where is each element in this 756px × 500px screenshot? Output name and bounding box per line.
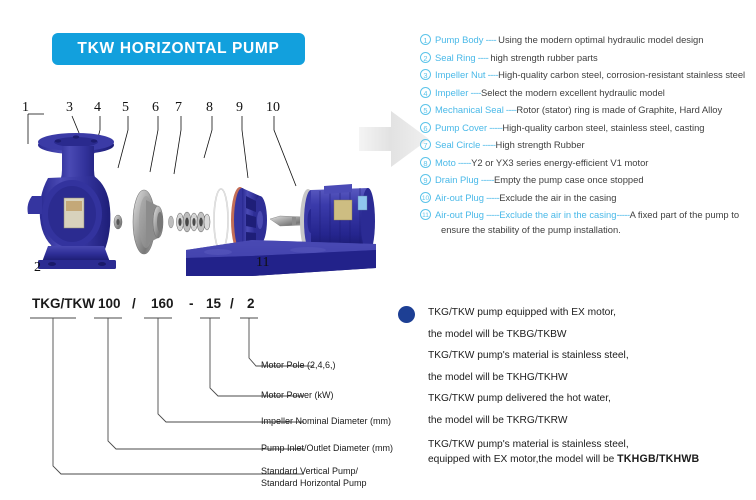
part-number-circle: 4: [420, 87, 431, 98]
part-separator: -----: [479, 174, 494, 185]
part-separator: -----: [480, 139, 495, 150]
note-line-4: the model will be TKHG/TKHW: [398, 367, 748, 389]
part-description: Exclude the air in the casing: [499, 192, 616, 203]
callout-number-5: 5: [122, 100, 129, 116]
part-name: Air-out Plug: [435, 192, 484, 203]
part-separator: -----: [456, 157, 471, 168]
part-name: Seal Ring: [435, 52, 476, 63]
part-text: Seal Circle -----High strength Rubber: [435, 138, 585, 151]
model-naming-diagram: TKG/TKW 100 / 160 - 15 / 2: [14, 296, 384, 492]
callout-number-11: 11: [256, 255, 269, 271]
part-text: Pump Body ---- Using the modern optimal …: [435, 33, 704, 46]
part-text: Air-out Plug -----Exclude the air in the…: [435, 208, 739, 221]
part-item-7: 7 Seal Circle -----High strength Rubber: [420, 138, 752, 151]
part-description-blue: Exclude the air in the casing: [499, 209, 616, 220]
model-label-standard-vert: Standard Vertical Pump/: [261, 466, 358, 476]
part-text: Impeller ----Select the modern excellent…: [435, 86, 665, 99]
model-label-motor-power: Motor Power (kW): [261, 390, 334, 400]
part-description: Rotor (stator) ring is made of Graphite,…: [516, 104, 722, 115]
part-description: Empty the pump case once stopped: [494, 174, 644, 185]
callout-number-2: 2: [34, 260, 41, 276]
part-name: Pump Cover: [435, 122, 487, 133]
part-item-10: 10 Air-out Plug -----Exclude the air in …: [420, 191, 752, 204]
part-number-circle: 1: [420, 34, 431, 45]
model-label-standard-horiz: Standard Horizontal Pump: [261, 478, 367, 488]
part-number-circle: 6: [420, 122, 431, 133]
part-name: Air-out Plug: [435, 209, 484, 220]
part-separator: -----: [484, 209, 499, 220]
callout-number-6: 6: [152, 100, 159, 116]
part-description: A fixed part of the pump to: [630, 209, 739, 220]
part-item-5: 5 Mechanical Seal ----Rotor (stator) rin…: [420, 103, 752, 116]
part-description: high strength rubber parts: [490, 52, 597, 63]
part-text: Pump Cover -----High-quality carbon stee…: [435, 121, 705, 134]
part-separator: ----: [476, 52, 491, 63]
part-description: High-quality carbon steel, stainless ste…: [502, 122, 704, 133]
part-name: Pump Body: [435, 34, 483, 45]
part-name: Seal Circle: [435, 139, 480, 150]
part-number-circle: 10: [420, 192, 431, 203]
note-line-6: the model will be TKRG/TKRW: [398, 410, 748, 432]
part-separator: -----: [487, 122, 502, 133]
part-description: High-quality carbon steel, corrosion-res…: [498, 69, 745, 80]
part-name: Impeller: [435, 87, 468, 98]
parts-list: 1 Pump Body ---- Using the modern optima…: [420, 33, 752, 239]
part-name: Impeller Nut: [435, 69, 486, 80]
page-title: TKW HORIZONTAL PUMP: [77, 40, 279, 58]
part-number-circle: 5: [420, 104, 431, 115]
note-final-model: TKHGB/TKHWB: [617, 453, 699, 465]
part-number-circle: 11: [420, 209, 431, 220]
note-final-line-1: TKG/TKW pump's material is stainless ste…: [398, 437, 748, 452]
part-text: Seal Ring ---- high strength rubber part…: [435, 51, 598, 64]
note-line-1: TKG/TKW pump equipped with EX motor,: [398, 302, 748, 324]
part-text: Impeller Nut ----High-quality carbon ste…: [435, 68, 745, 81]
note-line-2: the model will be TKBG/TKBW: [398, 324, 748, 346]
part-text: Drain Plug -----Empty the pump case once…: [435, 173, 644, 186]
callout-number-9: 9: [236, 100, 243, 116]
part-description: Using the modern optimal hydraulic model…: [498, 34, 703, 45]
part-name: Drain Plug: [435, 174, 479, 185]
part-item-9: 9 Drain Plug -----Empty the pump case on…: [420, 173, 752, 186]
callout-number-10: 10: [266, 100, 280, 116]
part-separator-2: -----: [616, 209, 629, 220]
part-separator: ----: [468, 87, 481, 98]
part-number-circle: 2: [420, 52, 431, 63]
part-text: Mechanical Seal ----Rotor (stator) ring …: [435, 103, 722, 116]
part-item-6: 6 Pump Cover -----High-quality carbon st…: [420, 121, 752, 134]
part-separator: -----: [484, 192, 499, 203]
part-description: High strength Rubber: [496, 139, 585, 150]
callout-number-1: 1: [22, 100, 29, 116]
bullet-dot-icon: [398, 306, 415, 323]
model-label-motor-pole: Motor Pole (2,4,6,): [261, 360, 336, 370]
part-name: Moto: [435, 157, 456, 168]
model-label-inlet-outlet: Pump Inlet/Outlet Diameter (mm): [261, 443, 393, 453]
title-banner: TKW HORIZONTAL PUMP: [52, 33, 305, 65]
model-variant-notes: TKG/TKW pump equipped with EX motor, the…: [398, 302, 748, 467]
note-line-3: TKG/TKW pump's material is stainless ste…: [398, 345, 748, 367]
part-text: Air-out Plug -----Exclude the air in the…: [435, 191, 616, 204]
part-text: Moto -----Y2 or YX3 series energy-effici…: [435, 156, 648, 169]
part-item-4: 4 Impeller ----Select the modern excelle…: [420, 86, 752, 99]
part-item-11-continuation: ensure the stability of the pump install…: [420, 224, 752, 235]
pump-assembly-graphic: [8, 100, 388, 285]
note-final-prefix: equipped with EX motor,the model will be: [428, 454, 617, 465]
callout-number-4: 4: [94, 100, 101, 116]
part-item-1: 1 Pump Body ---- Using the modern optima…: [420, 33, 752, 46]
model-label-impeller-dia: Impeller Nominal Diameter (mm): [261, 416, 391, 426]
part-description: Y2 or YX3 series energy-efficient V1 mot…: [471, 157, 648, 168]
part-item-8: 8 Moto -----Y2 or YX3 series energy-effi…: [420, 156, 752, 169]
part-number-circle: 8: [420, 157, 431, 168]
callout-number-8: 8: [206, 100, 213, 116]
callout-number-7: 7: [175, 100, 182, 116]
part-item-2: 2 Seal Ring ---- high strength rubber pa…: [420, 51, 752, 64]
note-final-line-2: equipped with EX motor,the model will be…: [398, 452, 748, 467]
exploded-pump-illustration: 1 3 4 5 6 7 8 9 10 2 11: [8, 100, 388, 285]
part-separator: ----: [483, 34, 498, 45]
part-number-circle: 9: [420, 174, 431, 185]
callout-number-3: 3: [66, 100, 73, 116]
part-separator: ----: [486, 69, 499, 80]
pump-product-sheet: TKW HORIZONTAL PUMP: [0, 0, 756, 500]
part-name: Mechanical Seal: [435, 104, 504, 115]
part-item-11: 11 Air-out Plug -----Exclude the air in …: [420, 208, 752, 221]
part-number-circle: 3: [420, 69, 431, 80]
part-separator: ----: [504, 104, 517, 115]
part-number-circle: 7: [420, 139, 431, 150]
part-description: Select the modern excellent hydraulic mo…: [481, 87, 665, 98]
part-item-3: 3 Impeller Nut ----High-quality carbon s…: [420, 68, 752, 81]
note-line-5: TKG/TKW pump delivered the hot water,: [398, 388, 748, 410]
